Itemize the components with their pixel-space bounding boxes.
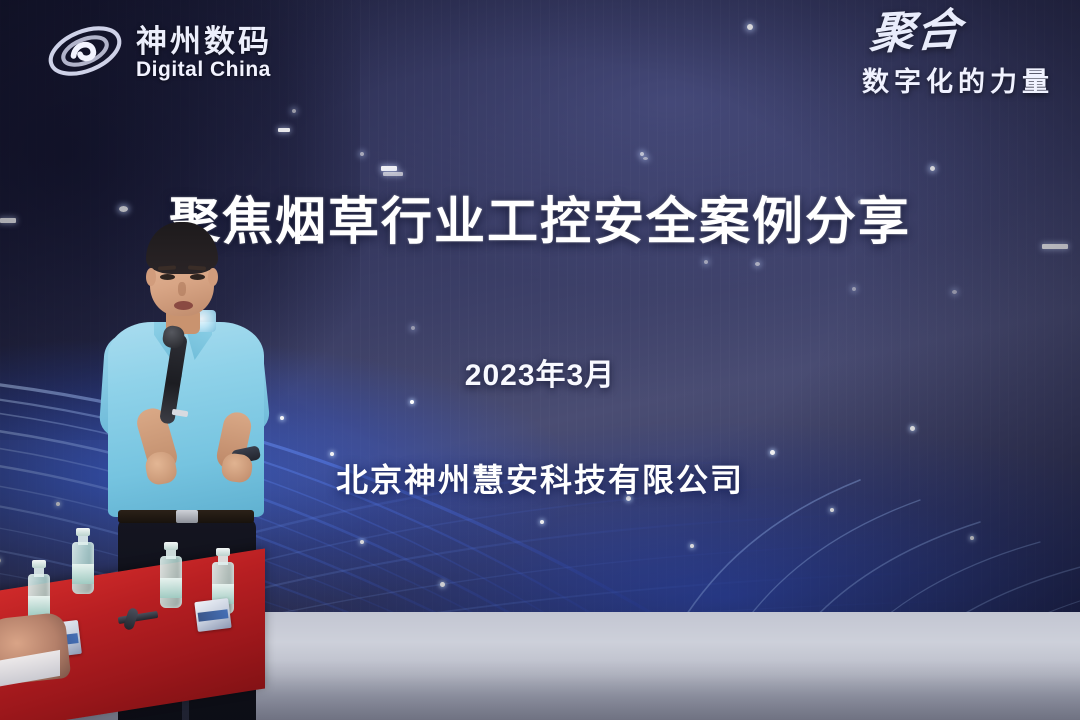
name-card: [194, 598, 231, 632]
star-dash-icon: [278, 128, 290, 132]
digital-china-swirl-logo-icon: [44, 18, 126, 89]
light-particle: [410, 400, 414, 404]
presenter-ear-right: [208, 268, 218, 286]
star-dot-icon: [360, 152, 364, 156]
digital-china-logo-text: 神州数码 Digital China: [136, 26, 272, 82]
bottle-cap: [76, 528, 90, 536]
star-dot-icon: [852, 287, 856, 291]
light-particle: [280, 416, 284, 420]
light-particle: [690, 544, 694, 548]
presenter-mouth: [174, 301, 193, 310]
event-brand-logo: 聚合 数字化的力量: [774, 14, 1054, 99]
bottle-label: [160, 578, 182, 598]
water-bottle: [160, 542, 182, 612]
water-bottle: [72, 528, 94, 598]
light-particle: [910, 426, 915, 431]
star-dot-icon: [411, 326, 415, 330]
bottle-label: [72, 564, 94, 584]
star-dot-icon: [704, 260, 708, 264]
light-particle: [360, 540, 364, 544]
light-particle: [440, 582, 445, 587]
name-card-band: [198, 610, 229, 623]
event-tagline: 数字化的力量: [774, 60, 1054, 99]
presenter-ear-left: [146, 268, 156, 286]
bottle-cap: [164, 542, 178, 550]
presenter-hair: [146, 222, 218, 274]
brand-name-cn: 神州数码: [136, 26, 272, 59]
digital-china-logo: 神州数码 Digital China: [44, 18, 272, 89]
presenter-eye-right: [190, 274, 205, 280]
presenter-belt-buckle: [176, 510, 198, 523]
star-dash-icon: [383, 172, 403, 176]
light-particle: [970, 536, 974, 540]
light-particle: [540, 520, 544, 524]
bottle-cap: [216, 548, 230, 556]
star-dot-icon: [747, 24, 753, 30]
screenshot-root: 神州数码 Digital China 聚合 数字化的力量 聚焦烟草行业工控安全案…: [0, 0, 1080, 720]
star-dot-icon: [643, 157, 648, 160]
star-dot-icon: [952, 290, 957, 294]
light-particle: [830, 508, 834, 512]
presenter-eye-left: [160, 274, 175, 280]
event-calligraphy-title: 聚合: [772, 9, 965, 61]
star-dot-icon: [640, 152, 644, 156]
star-dash-icon: [381, 166, 397, 171]
star-dot-icon: [930, 166, 935, 171]
bottle-cap: [32, 560, 46, 568]
presenter-nose: [178, 282, 186, 296]
star-dot-icon: [755, 262, 760, 266]
light-particle: [56, 502, 60, 506]
light-particle: [0, 558, 1, 563]
star-dot-icon: [292, 109, 296, 113]
brand-name-en: Digital China: [136, 58, 272, 81]
